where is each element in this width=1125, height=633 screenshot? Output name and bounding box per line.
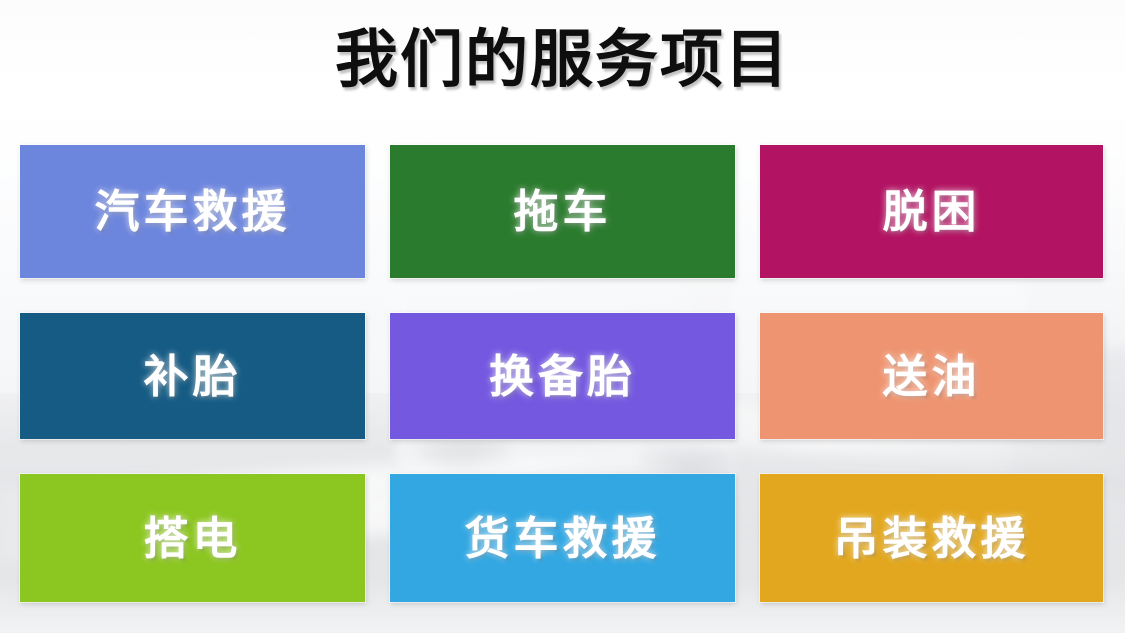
service-tile-jump-start[interactable]: 搭电 <box>20 474 365 602</box>
service-tile-label: 换备胎 <box>489 354 636 399</box>
service-tile-label: 吊装救援 <box>833 516 1029 561</box>
service-tile-label: 搭电 <box>143 516 241 561</box>
service-tile-crane-rescue[interactable]: 吊装救援 <box>760 474 1103 602</box>
service-tile-towing[interactable]: 拖车 <box>390 145 735 278</box>
title-banner: 我们的服务项目 <box>0 0 1125 120</box>
service-tile-truck-rescue[interactable]: 货车救援 <box>390 474 735 602</box>
service-tile-label: 拖车 <box>513 189 611 234</box>
service-tile-spare-tire[interactable]: 换备胎 <box>390 313 735 439</box>
service-tile-label: 汽车救援 <box>94 189 290 234</box>
page-title: 我们的服务项目 <box>335 29 790 92</box>
service-poster: 我们的服务项目 汽车救援 拖车 脱困 补胎 换备胎 送油 搭电 货车救援 吊装救… <box>0 0 1125 633</box>
service-tile-fuel-delivery[interactable]: 送油 <box>760 313 1103 439</box>
service-tile-tire-repair[interactable]: 补胎 <box>20 313 365 439</box>
service-tile-label: 货车救援 <box>464 516 660 561</box>
service-tile-label: 送油 <box>882 354 980 399</box>
service-tile-grid: 汽车救援 拖车 脱困 补胎 换备胎 送油 搭电 货车救援 吊装救援 <box>20 145 1105 601</box>
service-tile-label: 脱困 <box>882 189 980 234</box>
service-tile-extrication[interactable]: 脱困 <box>760 145 1103 278</box>
service-tile-car-rescue[interactable]: 汽车救援 <box>20 145 365 278</box>
service-tile-label: 补胎 <box>143 354 241 399</box>
